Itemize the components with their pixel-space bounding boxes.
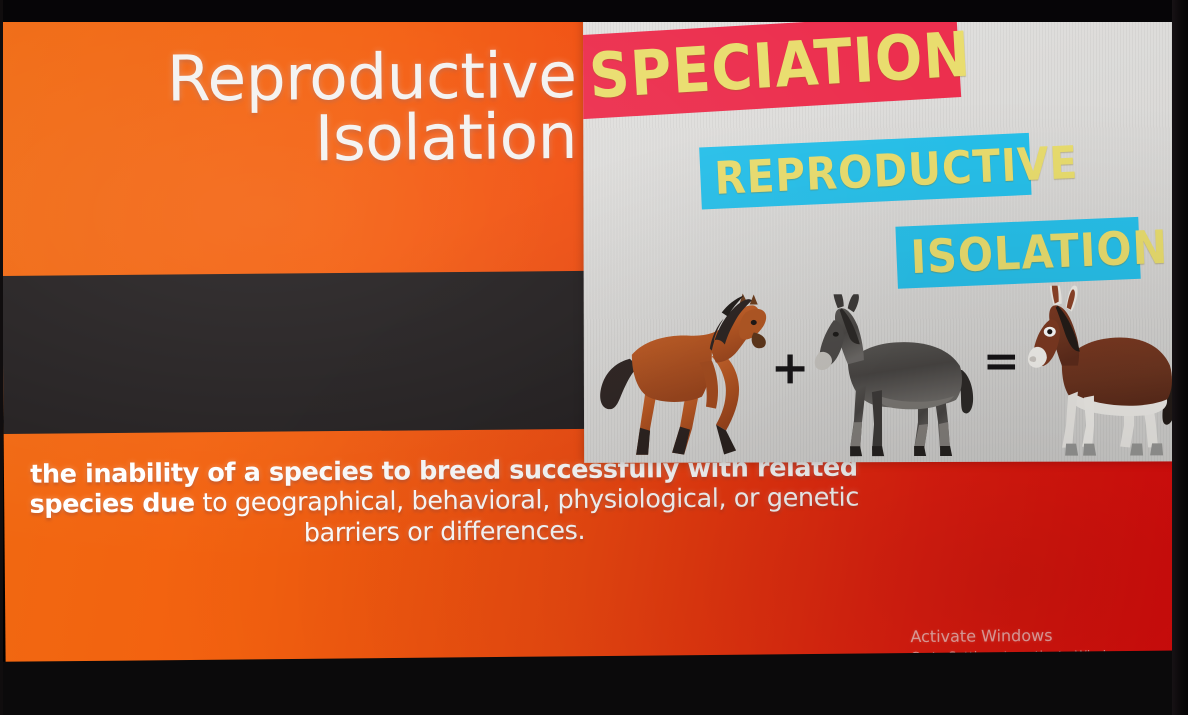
title-line-2: Isolation [41, 106, 578, 172]
presentation-slide: Reproductive Isolation the inability of … [0, 10, 1184, 668]
equals-operator: = [983, 340, 1020, 384]
dark-accent-band [0, 271, 588, 434]
definition-regular: to geographical, behavioral, physiologic… [195, 483, 859, 548]
plus-operator: + [771, 344, 810, 390]
definition-text: the inability of a species to breed succ… [28, 453, 861, 551]
monitor-bezel-top [0, 0, 1188, 22]
monitor-bezel-left [0, 0, 3, 715]
donkey-illustration [812, 294, 987, 463]
monitor-photo: Reproductive Isolation the inability of … [0, 0, 1188, 715]
page-title: Reproductive Isolation [40, 45, 577, 172]
banner-isolation: ISOLATION [895, 217, 1140, 289]
banner-reproductive: REPRODUCTIVE [699, 133, 1031, 210]
mule-illustration [1024, 285, 1180, 463]
hybrid-equation: + = [584, 291, 1180, 463]
monitor-bezel-bottom [0, 650, 1188, 715]
speciation-illustration: SPECIATION REPRODUCTIVE ISOLATION [583, 10, 1180, 463]
horse-illustration [594, 292, 774, 462]
watermark-title: Activate Windows [910, 625, 1134, 647]
monitor-bezel-right [1172, 0, 1188, 715]
banner-speciation: SPECIATION [583, 13, 961, 120]
